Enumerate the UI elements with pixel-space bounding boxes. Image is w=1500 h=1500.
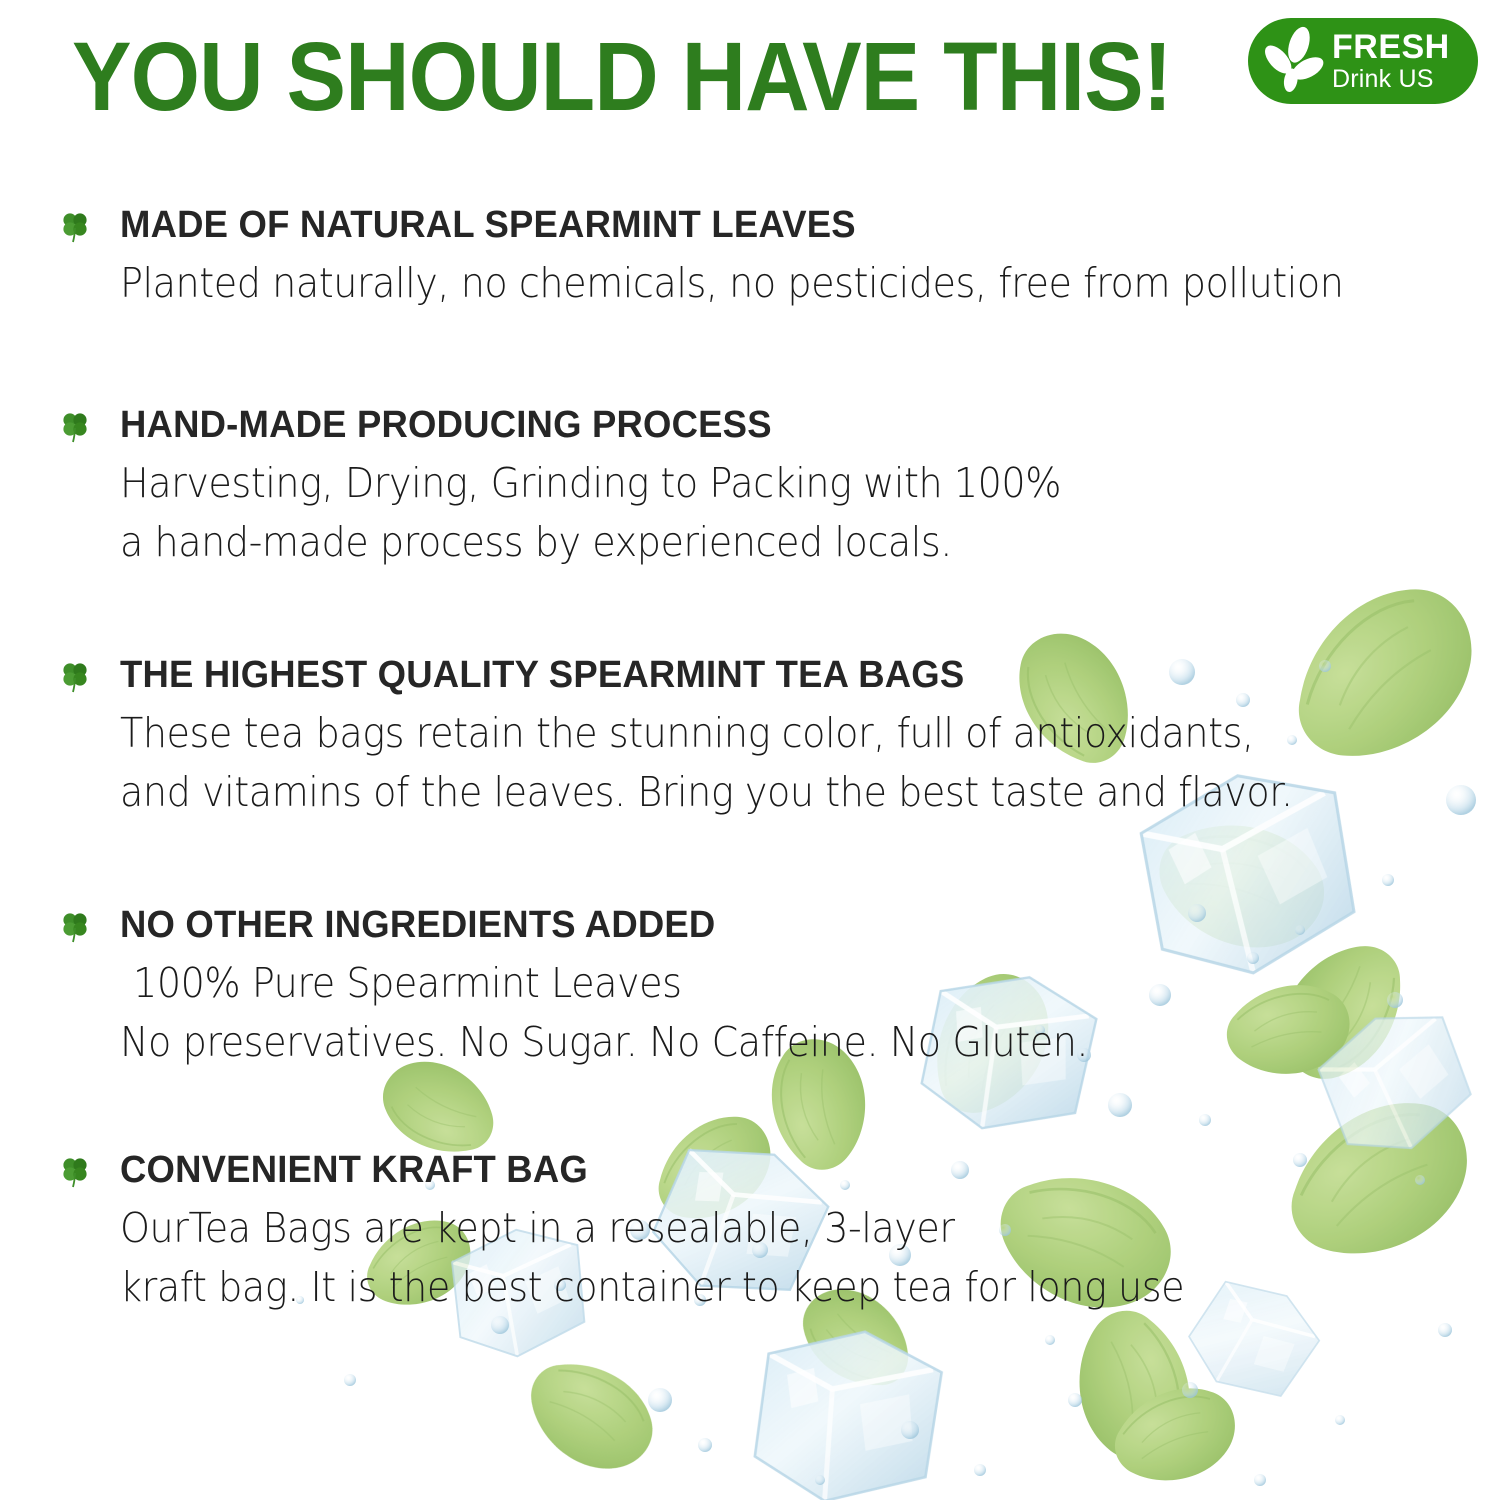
feature-body-line: and vitamins of the leaves. Bring you th… — [120, 763, 1394, 822]
feature-title: MADE OF NATURAL SPEARMINT LEAVES — [120, 205, 856, 245]
feature-heading-row: MADE OF NATURAL SPEARMINT LEAVES — [60, 205, 1490, 245]
feature-body-line: kraft bag. It is the best container to k… — [120, 1258, 1394, 1317]
feature-item-5: CONVENIENT KRAFT BAG OurTea Bags are kep… — [60, 1150, 1490, 1317]
page-title: YOU SHOULD HAVE THIS! — [72, 28, 1172, 125]
feature-heading-row: THE HIGHEST QUALITY SPEARMINT TEA BAGS — [60, 655, 1490, 695]
feature-item-2: HAND-MADE PRODUCING PROCESS Harvesting, … — [60, 405, 1490, 572]
feature-body: Harvesting, Drying, Grinding to Packing … — [120, 454, 1394, 572]
feature-heading-row: HAND-MADE PRODUCING PROCESS — [60, 405, 1490, 445]
feature-body: OurTea Bags are kept in a resealable, 3-… — [120, 1199, 1394, 1317]
feature-body-line: a hand-made process by experienced local… — [120, 513, 1394, 572]
feature-item-4: NO OTHER INGREDIENTS ADDED 100% Pure Spe… — [60, 905, 1490, 1072]
four-leaf-clover-icon — [60, 211, 90, 243]
feature-body-line: 100% Pure Spearmint Leaves — [120, 954, 1394, 1013]
leaf-cluster-icon — [1256, 24, 1330, 98]
feature-heading-row: NO OTHER INGREDIENTS ADDED — [60, 905, 1490, 945]
four-leaf-clover-icon — [60, 1156, 90, 1188]
feature-body-line: Harvesting, Drying, Grinding to Packing … — [120, 454, 1394, 513]
four-leaf-clover-icon — [60, 411, 90, 443]
four-leaf-clover-icon — [60, 911, 90, 943]
logo-tagline: Drink US — [1332, 67, 1450, 92]
logo-brand-name: FRESH — [1332, 30, 1450, 64]
feature-item-3: THE HIGHEST QUALITY SPEARMINT TEA BAGS T… — [60, 655, 1490, 822]
feature-title: NO OTHER INGREDIENTS ADDED — [120, 905, 715, 945]
feature-title: THE HIGHEST QUALITY SPEARMINT TEA BAGS — [120, 655, 964, 695]
feature-body: Planted naturally, no chemicals, no pest… — [120, 254, 1394, 313]
brand-logo: FRESH Drink US — [1248, 18, 1478, 104]
four-leaf-clover-icon — [60, 661, 90, 693]
logo-wordmark: FRESH Drink US — [1332, 30, 1450, 92]
feature-title: HAND-MADE PRODUCING PROCESS — [120, 405, 772, 445]
feature-body-line: No preservatives. No Sugar. No Caffeine.… — [120, 1013, 1394, 1072]
feature-body: These tea bags retain the stunning color… — [120, 704, 1394, 822]
product-feature-panel: YOU SHOULD HAVE THIS! FRESH Drink US — [0, 0, 1500, 1500]
feature-body-line: These tea bags retain the stunning color… — [120, 704, 1394, 763]
feature-heading-row: CONVENIENT KRAFT BAG — [60, 1150, 1490, 1190]
feature-item-1: MADE OF NATURAL SPEARMINT LEAVES Planted… — [60, 205, 1490, 313]
feature-body: 100% Pure Spearmint Leaves No preservati… — [120, 954, 1394, 1072]
feature-body-line: OurTea Bags are kept in a resealable, 3-… — [120, 1199, 1394, 1258]
feature-title: CONVENIENT KRAFT BAG — [120, 1150, 588, 1190]
feature-body-line: Planted naturally, no chemicals, no pest… — [120, 254, 1394, 313]
